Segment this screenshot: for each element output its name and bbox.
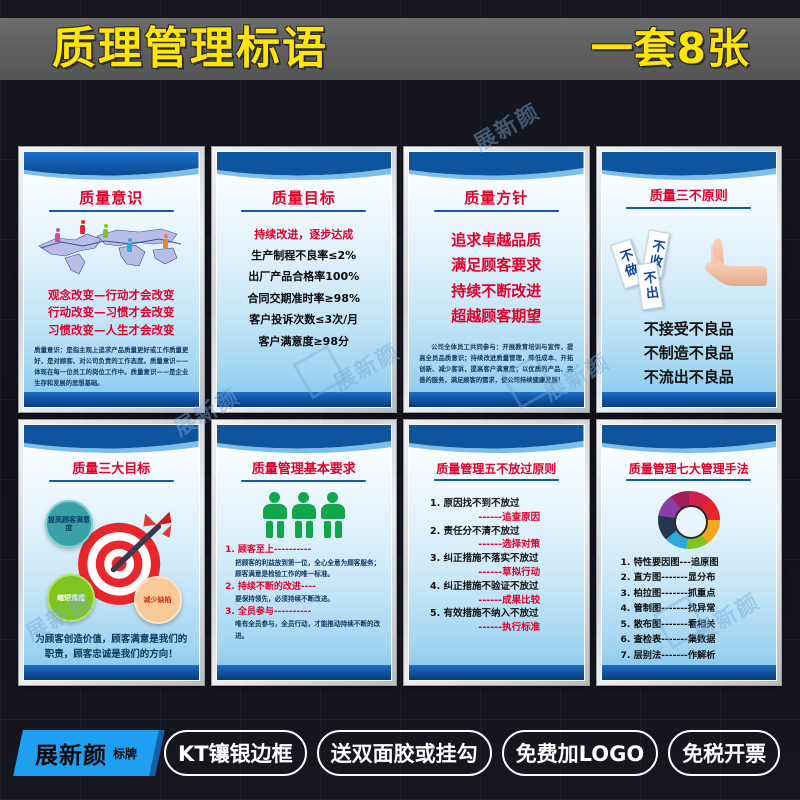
poster-quality-policy[interactable]: 质量方针 追求卓越品质 满足顾客要求 持续不断改进 超越顾客期望 公司全体员工共…	[403, 146, 590, 413]
qc-tool-item: 4. 管制图-------找异常	[609, 601, 770, 616]
team-figures-icon	[263, 492, 345, 538]
poster-bottom-band	[602, 392, 777, 407]
title-rule	[434, 479, 559, 481]
poster-bottom-band	[602, 665, 777, 680]
poster-three-major-goals[interactable]: 质量三大目标	[18, 419, 205, 686]
slogan-line: 满足顾客要求	[451, 253, 541, 279]
requirement-heading: 3. 全员参与----------	[225, 606, 382, 620]
principle-action: ------选择对策	[416, 538, 577, 552]
slogan-line: 习惯改变—人生才会改变	[48, 322, 175, 340]
poster-title: 质量意识	[79, 190, 143, 207]
title-rule	[626, 479, 751, 481]
poster-top-band	[602, 152, 777, 182]
poster-title: 质量三大目标	[72, 463, 150, 477]
poster-title: 质量管理七大管理手法	[629, 463, 749, 476]
poster-bottom-band	[217, 392, 392, 407]
map-figure	[103, 224, 108, 238]
brand-subtitle: 标牌	[113, 745, 137, 762]
poster-bottom-band	[217, 665, 392, 680]
qc-tool-list: 1. 特性要因图---追原图 2. 直方图-------显分布 3. 柏拉图--…	[609, 555, 770, 663]
poster-title: 质量管理五不放过原则	[436, 463, 556, 476]
requirement-detail: 要保持领先，必须持续不断改进。	[225, 594, 382, 606]
title-rule	[49, 210, 174, 212]
title-rule	[241, 210, 366, 212]
map-figure	[127, 238, 132, 252]
no-card-label: 不出	[638, 270, 661, 302]
poster-three-no-principles[interactable]: 质量三不原则 不做 不收 不出	[596, 146, 783, 413]
slogan-line: 观念改变—行动才会改变	[48, 287, 175, 305]
poster-body-text: 质量意识：是指主观上追求产品质量更好或工作质量更好，是对顾客、对公司负责的工作态…	[34, 345, 188, 389]
poster-top-band	[409, 425, 584, 455]
poster-title: 质量方针	[464, 190, 528, 207]
objective-item: 生产制程不良率≤2%	[247, 245, 360, 266]
principle-item: 2. 责任分不清不放过	[416, 525, 577, 539]
title-rule	[49, 480, 174, 482]
qc-tool-item: 7. 层别法-------作解析	[609, 648, 770, 663]
poster-body-text: 公司全体员工共同参与：开展教育培训与宣传，提高全员品质意识；持续改进质量管理，降…	[419, 342, 573, 386]
principle-line: 不流出不良品	[644, 365, 734, 389]
poster-top-band	[602, 425, 777, 455]
goal-bubble-label: 提高顾客满意度	[47, 516, 91, 532]
principle-list: 1. 原因找不到不放过 ------追查原因 2. 责任分不清不放过 -----…	[416, 497, 577, 635]
policy-slogan-block: 追求卓越品质 满足顾客要求 持续不断改进 超越顾客期望	[451, 228, 541, 330]
goal-bubble-label: 缩短流程	[57, 594, 85, 602]
principle-lines: 不接受不良品 不制造不良品 不流出不良品	[644, 317, 734, 389]
poster-title: 质量管理基本要求	[252, 463, 356, 477]
qc-tool-item: 3. 柏拉图-------抓重点	[609, 586, 770, 601]
world-map-graphic	[35, 220, 187, 282]
requirement-detail: 唯有全员参与，全员行动，才能推动持续不断的改进。	[225, 619, 382, 642]
qc-tool-item: 5. 散布图-------看相关	[609, 617, 770, 632]
poster-bottom-band	[409, 665, 584, 680]
objective-highlight: 持续改进，逐步达成	[247, 224, 360, 245]
goal-bubble: 缩短流程	[47, 574, 95, 622]
objective-item: 客户投诉次数≤3次/月	[247, 309, 360, 330]
feature-pill-adhesive[interactable]: 送双面胶或挂勾	[317, 730, 492, 776]
poster-five-no-pass-principles[interactable]: 质量管理五不放过原则 1. 原因找不到不放过 ------追查原因 2. 责任分…	[403, 419, 590, 686]
principle-action: ------执行标准	[416, 621, 577, 635]
person-icon	[263, 492, 287, 538]
objective-item: 合同交期准时率≥98%	[247, 288, 360, 309]
quantity-badge: 一套8张	[591, 28, 750, 70]
donut-chart-icon	[658, 491, 720, 549]
principle-action: ------追查原因	[416, 511, 577, 525]
requirement-heading: 1. 顾客至上----------	[225, 544, 382, 558]
title-rule	[434, 210, 559, 212]
principle-action: ------成果比较	[416, 594, 577, 608]
poster-bottom-band	[24, 392, 199, 407]
header-bar: 质理管理标语 一套8张	[0, 18, 800, 80]
principle-line: 不接受不良品	[644, 317, 734, 341]
goal-bubble: 减少缺陷	[134, 576, 182, 624]
target-illustration: 提高顾客满意度 缩短流程 减少缺陷	[31, 488, 192, 630]
qc-tool-item: 2. 直方图-------显分布	[609, 570, 770, 585]
principle-line: 不制造不良品	[644, 341, 734, 365]
title-rule	[626, 207, 751, 209]
poster-slogan-block: 观念改变—行动才会改变 行动改变—习惯才会改变 习惯改变—人生才会改变	[48, 287, 175, 340]
title-rule	[241, 480, 366, 482]
poster-quality-awareness[interactable]: 质量意识	[18, 146, 205, 413]
poster-quality-objectives[interactable]: 质量目标 持续改进，逐步达成 生产制程不良率≤2% 出厂产品合格率100% 合同…	[211, 146, 398, 413]
brand-name: 展新颜	[35, 736, 107, 770]
principle-item: 4. 纠正措施不验证不放过	[416, 580, 577, 594]
poster-seven-qc-tools[interactable]: 质量管理七大管理手法 1. 特性要因图---追原图 2. 直方图-------显…	[596, 419, 783, 686]
brand-logo[interactable]: 展新颜 标牌	[13, 730, 159, 776]
feature-pill-invoice[interactable]: 免税开票	[668, 730, 780, 776]
slogan-line: 持续不断改进	[451, 279, 541, 305]
slogan-line: 超越顾客期望	[451, 304, 541, 330]
principle-item: 3. 纠正措施不落实不放过	[416, 552, 577, 566]
principle-action: ------草拟行动	[416, 566, 577, 580]
poster-basic-requirements[interactable]: 质量管理基本要求 1. 顾客至上-----	[211, 419, 398, 686]
goal-footer-text: 为顾客创造价值，顾客满意是我们的职责，顾客忠诚是我们的方向！	[34, 632, 188, 662]
person-icon	[292, 492, 316, 538]
footer-bar: 展新颜 标牌 KT镶银边框 送双面胶或挂勾 免费加LOGO 免税开票	[0, 724, 800, 782]
poster-top-band	[24, 425, 199, 455]
poster-grid: 质量意识	[18, 146, 782, 686]
requirement-list: 1. 顾客至上---------- 把顾客的利益放到第一位，全心全意为顾客服务；…	[225, 544, 382, 642]
poster-collage: 质理管理标语 一套8张 质量意识	[0, 0, 800, 800]
poster-title: 质量目标	[272, 190, 336, 207]
qc-tool-item: 1. 特性要因图---追原图	[609, 555, 770, 570]
requirement-heading: 2. 持续不断的改进----	[225, 581, 382, 595]
goal-bubble: 提高顾客满意度	[45, 500, 93, 548]
poster-title: 质量三不原则	[650, 190, 728, 204]
slogan-line: 行动改变—习惯才会改变	[48, 304, 175, 322]
goal-bubble-label: 减少缺陷	[144, 596, 172, 604]
person-icon	[321, 492, 345, 538]
objective-list: 持续改进，逐步达成 生产制程不良率≤2% 出厂产品合格率100% 合同交期准时率…	[247, 224, 360, 353]
poster-top-band	[217, 425, 392, 455]
qc-tool-item: 6. 查检表-------集数据	[609, 632, 770, 647]
map-figure	[163, 234, 168, 248]
principle-item: 5. 有效措施不纳入不放过	[416, 607, 577, 621]
page-title: 质理管理标语	[52, 27, 328, 71]
stop-hand-illustration: 不做 不收 不出	[609, 217, 770, 313]
poster-top-band	[217, 152, 392, 182]
map-figure	[55, 228, 60, 242]
poster-bottom-band	[24, 665, 199, 680]
principle-item: 1. 原因找不到不放过	[416, 497, 577, 511]
feature-pill-logo[interactable]: 免费加LOGO	[502, 730, 659, 776]
hand-icon	[693, 233, 767, 295]
objective-item: 客户满意度≥98分	[247, 331, 360, 352]
poster-top-band	[409, 152, 584, 182]
feature-pill-frame[interactable]: KT镶银边框	[164, 730, 307, 776]
poster-bottom-band	[409, 392, 584, 407]
poster-top-band	[24, 152, 199, 182]
objective-item: 出厂产品合格率100%	[247, 266, 360, 287]
map-figure	[80, 220, 85, 234]
slogan-line: 追求卓越品质	[451, 228, 541, 254]
requirement-detail: 把顾客的利益放到第一位，全心全意为顾客服务；顾客满意是检验工作的唯一标准。	[225, 558, 382, 581]
